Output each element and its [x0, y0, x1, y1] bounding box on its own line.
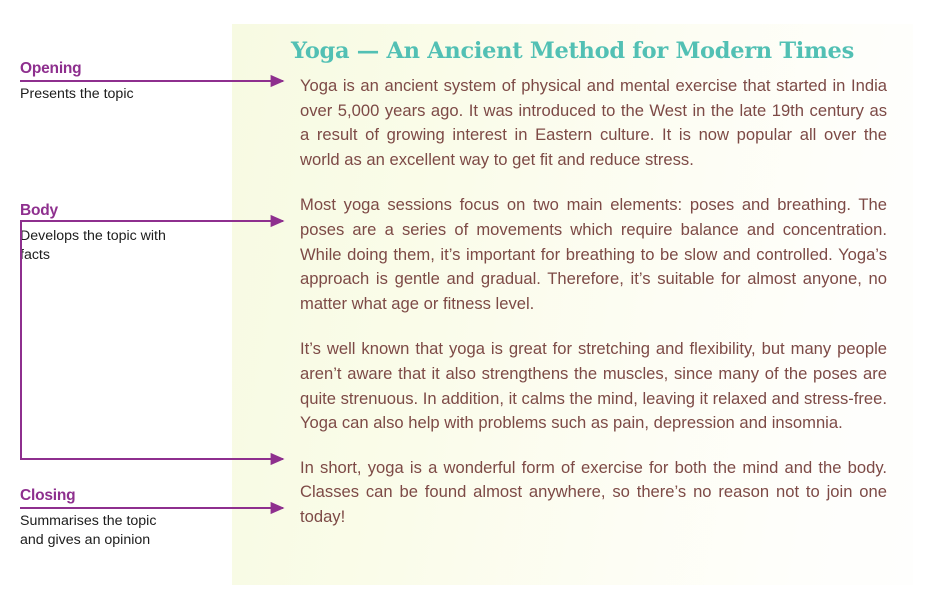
- paragraph-closing: In short, yoga is a wonderful form of ex…: [300, 456, 887, 530]
- article-body: Yoga is an ancient system of physical an…: [300, 74, 887, 530]
- paragraph-body-first: Most yoga sessions focus on two main ele…: [300, 193, 887, 316]
- paragraph-body-second: It’s well known that yoga is great for s…: [300, 337, 887, 435]
- paragraph-opening: Yoga is an ancient system of physical an…: [300, 74, 887, 172]
- diagram-canvas: Yoga — An Ancient Method for Modern Time…: [0, 0, 940, 592]
- annotation-heading-closing: Closing: [20, 487, 75, 505]
- annotation-heading-body: Body: [20, 202, 58, 220]
- annotation-description-body: Develops the topic with facts: [20, 227, 166, 265]
- article-title: Yoga — An Ancient Method for Modern Time…: [232, 38, 913, 64]
- annotation-description-opening: Presents the topic: [20, 85, 134, 104]
- annotation-description-closing: Summarises the topic and gives an opinio…: [20, 512, 156, 550]
- annotation-heading-opening: Opening: [20, 60, 81, 78]
- article-panel: Yoga — An Ancient Method for Modern Time…: [232, 24, 913, 585]
